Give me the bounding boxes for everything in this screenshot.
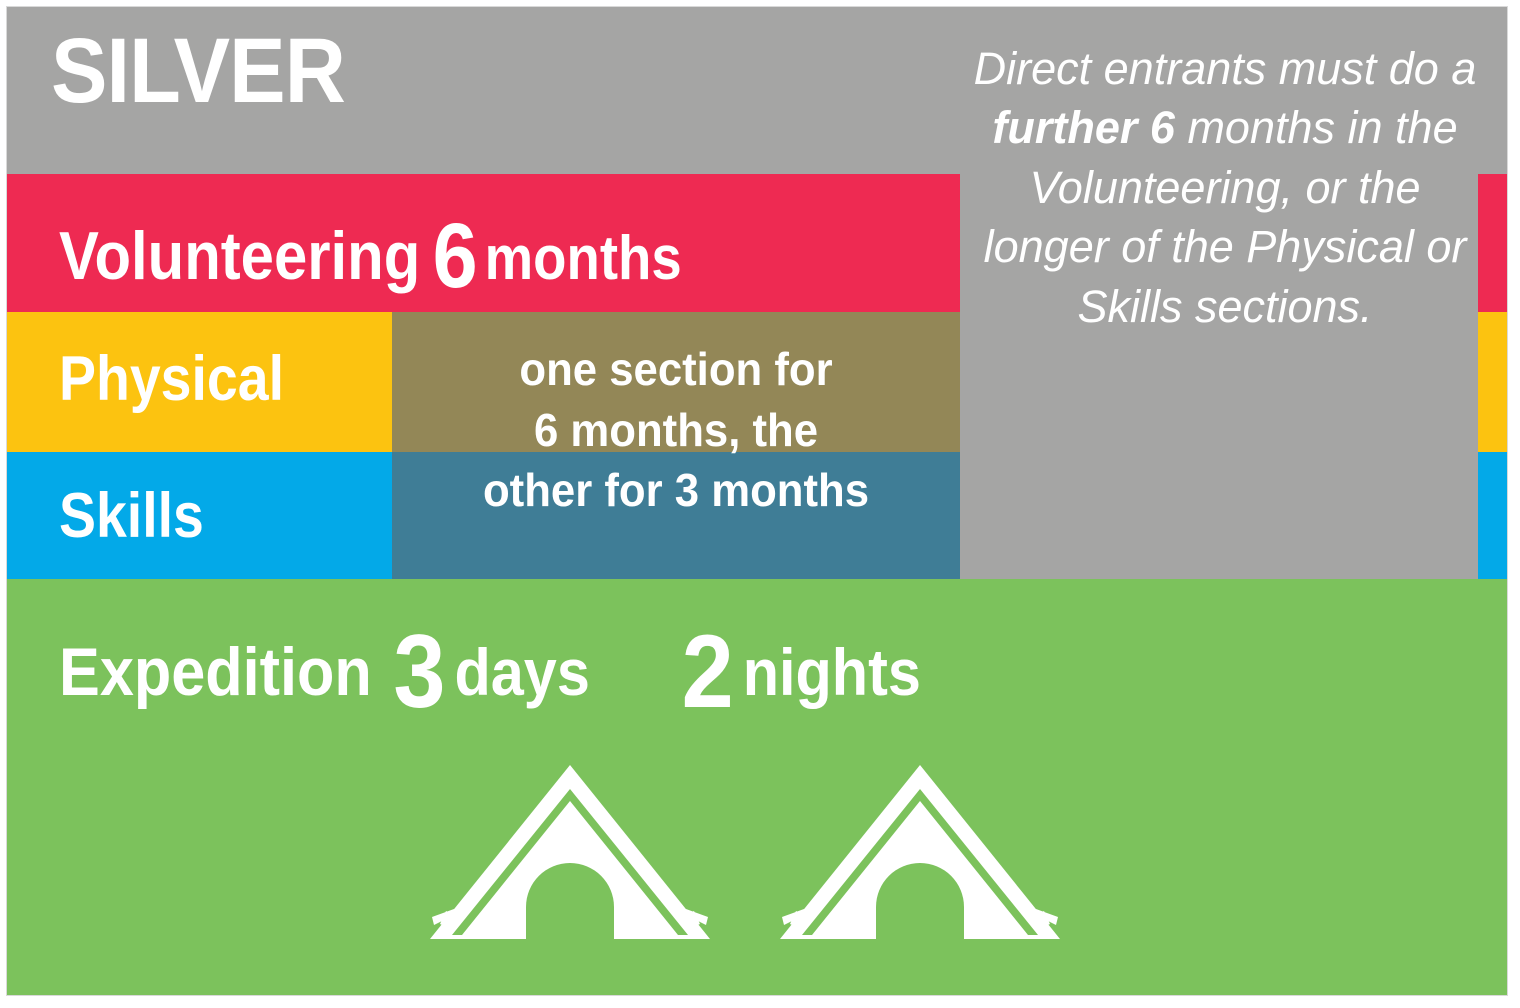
tent-icon bbox=[420, 759, 720, 949]
expedition-days-unit: days bbox=[454, 635, 589, 709]
volunteering-label: Volunteering bbox=[59, 218, 420, 294]
expedition-days-number: 3 bbox=[393, 614, 445, 730]
edge-strip-physical bbox=[1478, 312, 1507, 452]
volunteering-number: 6 bbox=[433, 205, 478, 307]
infographic-root: SILVER Direct entrants must do a further… bbox=[0, 0, 1520, 1008]
silver-award-card: SILVER Direct entrants must do a further… bbox=[6, 6, 1508, 996]
duration-note-line1: one section for bbox=[406, 339, 946, 400]
expedition-label: Expedition bbox=[59, 634, 372, 710]
side-note-part1: Direct entrants must do a bbox=[974, 43, 1477, 94]
volunteering-unit: months bbox=[485, 224, 682, 293]
side-note-emphasis: further 6 bbox=[992, 102, 1175, 153]
duration-note-line3: other for 3 months bbox=[406, 460, 946, 521]
edge-strip-skills bbox=[1478, 452, 1507, 579]
edge-strip-volunteering bbox=[1478, 174, 1507, 312]
page-title: SILVER bbox=[51, 25, 345, 117]
direct-entrants-note: Direct entrants must do a further 6 mont… bbox=[970, 39, 1480, 336]
physical-label: Physical bbox=[59, 348, 284, 411]
duration-note-line2: 6 months, the bbox=[406, 400, 946, 461]
tent-icon bbox=[770, 759, 1070, 949]
expedition-nights-unit: nights bbox=[743, 635, 921, 709]
expedition-row: Expedition3days2nights bbox=[59, 620, 921, 724]
volunteering-row: Volunteering6months bbox=[59, 210, 682, 302]
expedition-nights-number: 2 bbox=[682, 614, 734, 730]
duration-note: one section for 6 months, the other for … bbox=[406, 339, 946, 521]
skills-label: Skills bbox=[59, 485, 204, 548]
